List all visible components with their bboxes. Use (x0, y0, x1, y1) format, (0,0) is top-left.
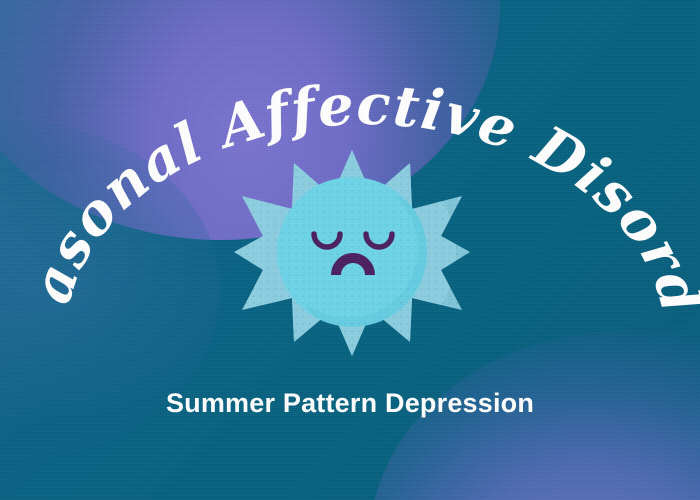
poster-subtitle: Summer Pattern Depression (0, 388, 700, 419)
poster-canvas: Seasonal Affective Disorder Summer Patte… (0, 0, 700, 500)
arc-title: Seasonal Affective Disorder (0, 0, 700, 500)
page-title: Seasonal Affective Disorder (0, 0, 700, 321)
